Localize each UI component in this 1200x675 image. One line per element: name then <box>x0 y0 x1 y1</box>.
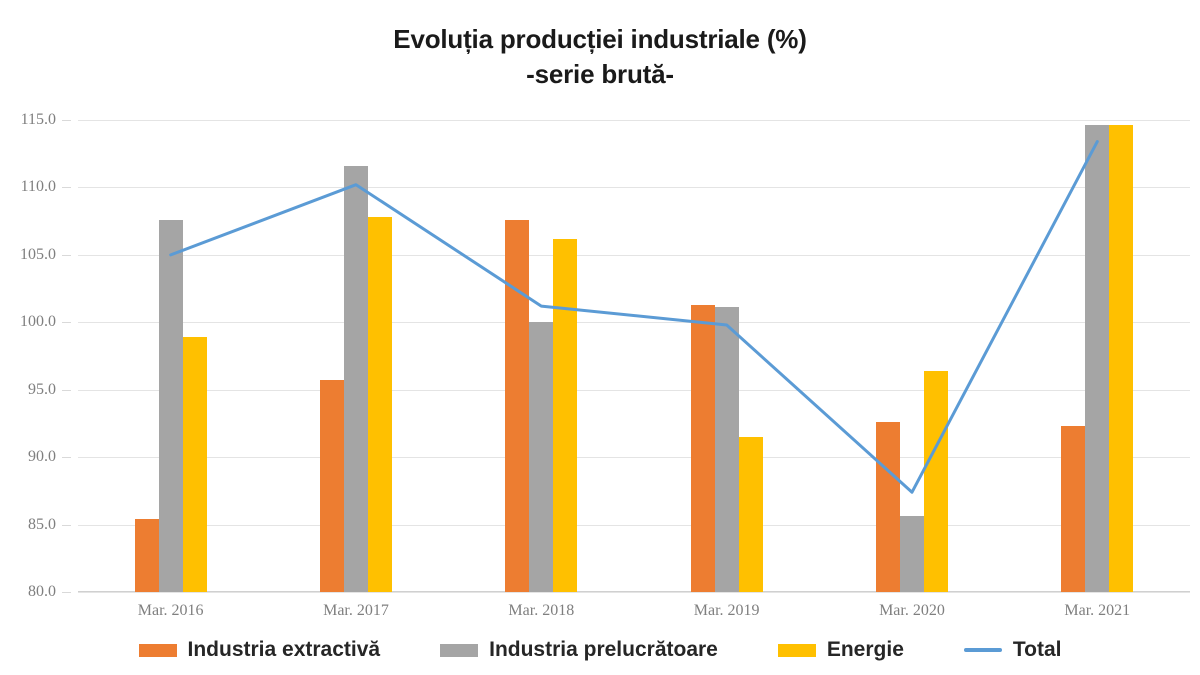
y-tick-label: 105.0 <box>20 246 56 264</box>
legend-item[interactable]: Industria prelucrătoare <box>440 638 718 662</box>
y-axis: 115.0110.0105.0100.095.090.085.080.0 <box>0 120 62 600</box>
y-tick-mark <box>62 255 71 256</box>
y-tick-mark <box>62 457 71 458</box>
y-tick-mark <box>62 390 71 391</box>
bar-prelucratoare[interactable] <box>1085 125 1109 592</box>
bar-groups <box>78 120 1190 592</box>
bar-extractiva[interactable] <box>505 220 529 592</box>
legend-color-swatch-icon <box>139 644 177 657</box>
bar-group-bars <box>449 120 634 592</box>
y-tick-label: 90.0 <box>28 448 56 466</box>
bar-group-bars <box>634 120 819 592</box>
x-tick-label: Mar. 2020 <box>819 602 1004 620</box>
bar-extractiva[interactable] <box>135 519 159 592</box>
chart-legend: Industria extractivăIndustria prelucrăto… <box>0 638 1200 662</box>
bar-group <box>819 120 1004 592</box>
bar-extractiva[interactable] <box>691 305 715 592</box>
bar-prelucratoare[interactable] <box>900 516 924 592</box>
bar-extractiva[interactable] <box>1061 426 1085 592</box>
legend-item[interactable]: Energie <box>778 638 904 662</box>
legend-item[interactable]: Total <box>964 638 1062 662</box>
y-tick-label: 100.0 <box>20 313 56 331</box>
x-tick-label: Mar. 2019 <box>634 602 819 620</box>
bar-energie[interactable] <box>1109 125 1133 592</box>
y-tick-mark <box>62 322 71 323</box>
bar-extractiva[interactable] <box>320 380 344 592</box>
y-tick-label: 80.0 <box>28 583 56 601</box>
bar-energie[interactable] <box>924 371 948 592</box>
bar-group-bars <box>263 120 448 592</box>
bar-group <box>78 120 263 592</box>
y-tick-label: 115.0 <box>21 111 56 129</box>
legend-line-swatch-icon <box>964 648 1002 652</box>
x-axis: Mar. 2016Mar. 2017Mar. 2018Mar. 2019Mar.… <box>78 602 1190 620</box>
legend-item-label: Total <box>1013 638 1062 662</box>
x-tick-label: Mar. 2017 <box>263 602 448 620</box>
plot-wrapper: 115.0110.0105.0100.095.090.085.080.0 Mar… <box>0 120 1200 600</box>
bar-prelucratoare[interactable] <box>715 307 739 592</box>
x-tick-label: Mar. 2018 <box>449 602 634 620</box>
plot-area <box>78 120 1190 592</box>
bar-group <box>634 120 819 592</box>
chart-title-main: Evoluția producției industriale (%) <box>393 24 806 54</box>
bar-energie[interactable] <box>368 217 392 592</box>
gridline <box>78 592 1190 593</box>
y-tick-label: 85.0 <box>28 516 56 534</box>
legend-color-swatch-icon <box>440 644 478 657</box>
y-tick-mark <box>62 120 71 121</box>
legend-color-swatch-icon <box>778 644 816 657</box>
bar-group-bars <box>78 120 263 592</box>
bar-group-bars <box>819 120 1004 592</box>
y-tick-label: 95.0 <box>28 381 56 399</box>
bar-energie[interactable] <box>739 437 763 592</box>
industrial-production-chart: Evoluția producției industriale (%) -ser… <box>0 0 1200 675</box>
bar-group-bars <box>1005 120 1190 592</box>
bar-group <box>263 120 448 592</box>
bar-energie[interactable] <box>553 239 577 592</box>
bar-prelucratoare[interactable] <box>159 220 183 592</box>
legend-item-label: Industria prelucrătoare <box>489 638 718 662</box>
bar-prelucratoare[interactable] <box>344 166 368 592</box>
chart-title: Evoluția producției industriale (%) -ser… <box>0 22 1200 92</box>
bar-prelucratoare[interactable] <box>529 322 553 592</box>
y-tick-mark <box>62 187 71 188</box>
legend-item[interactable]: Industria extractivă <box>139 638 381 662</box>
bar-group <box>449 120 634 592</box>
y-tick-mark <box>62 525 71 526</box>
y-tick-label: 110.0 <box>21 178 56 196</box>
legend-item-label: Energie <box>827 638 904 662</box>
chart-subtitle: -serie brută- <box>0 57 1200 92</box>
bar-energie[interactable] <box>183 337 207 592</box>
legend-item-label: Industria extractivă <box>188 638 381 662</box>
x-tick-label: Mar. 2021 <box>1005 602 1190 620</box>
bar-extractiva[interactable] <box>876 422 900 592</box>
x-tick-label: Mar. 2016 <box>78 602 263 620</box>
y-tick-mark <box>62 592 71 593</box>
bar-group <box>1005 120 1190 592</box>
